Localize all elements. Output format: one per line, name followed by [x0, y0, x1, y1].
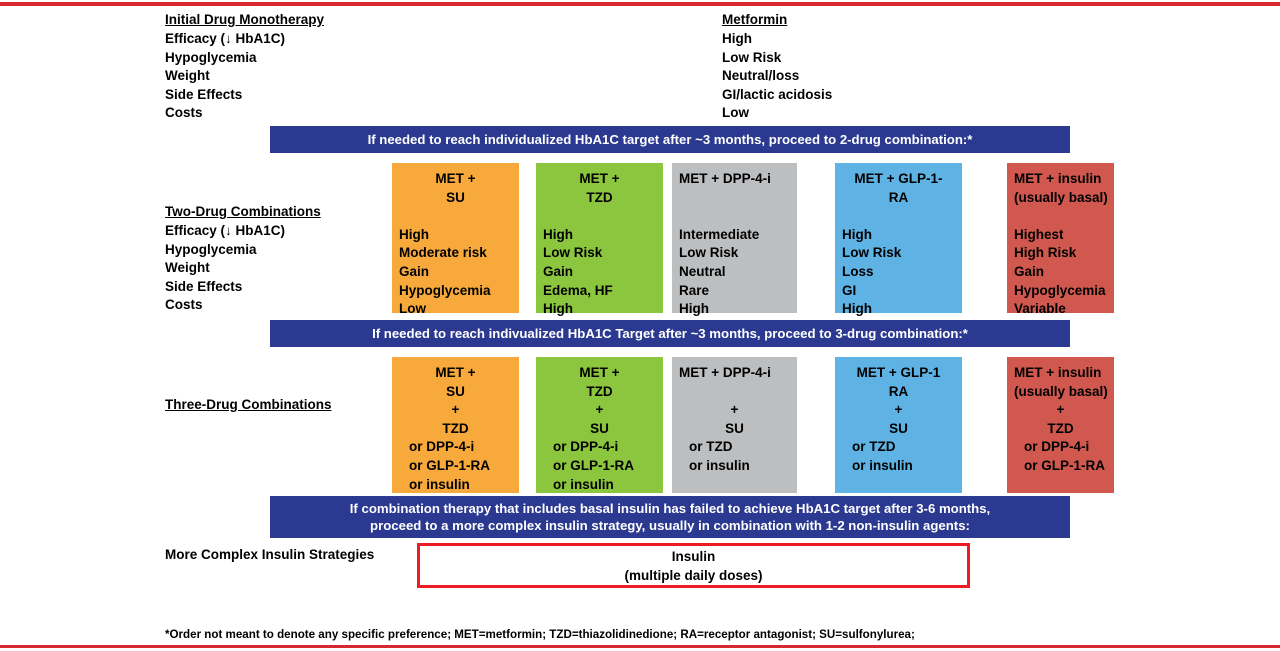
two-drug-column-met-su: MET + SU High Moderate risk Gain Hypogly…	[392, 163, 519, 313]
two-drug-col4-weight: Loss	[835, 263, 962, 282]
two-drug-col1-header-line1: MET +	[392, 170, 519, 189]
three-drug-col2-plus: +	[536, 401, 663, 420]
three-drug-col2-option-1: or DPP-4-i	[536, 438, 663, 457]
two-drug-attr-costs: Costs	[165, 296, 203, 315]
insulin-box: Insulin (multiple daily doses)	[417, 543, 970, 588]
footnote: *Order not meant to denote any specific …	[165, 596, 915, 651]
three-drug-col1-plus: +	[392, 401, 519, 420]
two-drug-attr-weight: Weight	[165, 259, 210, 278]
monotherapy-attr-efficacy: Efficacy (↓ HbA1C)	[165, 30, 285, 49]
footnote-line1: *Order not meant to denote any specific …	[165, 627, 915, 643]
two-drug-col5-costs: Variable	[1007, 300, 1114, 319]
three-drug-col5-option-2: or GLP-1-RA	[1007, 457, 1114, 476]
three-drug-column-met-su: MET + SU + TZD or DPP-4-i or GLP-1-RA or…	[392, 357, 519, 493]
three-drug-col4-base: SU	[835, 420, 962, 439]
two-drug-col3-side-effects: Rare	[672, 282, 797, 301]
three-drug-col3-header-line1: MET + DPP-4-i	[672, 364, 797, 383]
two-drug-col5-hypoglycemia: High Risk	[1007, 244, 1114, 263]
three-drug-col1-base: TZD	[392, 420, 519, 439]
two-drug-column-met-glp1ra: MET + GLP-1- RA High Low Risk Loss GI Hi…	[835, 163, 962, 313]
insulin-box-line2: (multiple daily doses)	[624, 566, 762, 585]
three-drug-col2-base: SU	[536, 420, 663, 439]
two-drug-col3-header-line1: MET + DPP-4-i	[672, 170, 797, 189]
banner-three-drug: If needed to reach indivualized HbA1C Ta…	[270, 320, 1070, 347]
metformin-hypoglycemia: Low Risk	[722, 49, 781, 68]
three-drug-col4-plus: +	[835, 401, 962, 420]
three-drug-col5-header-line1: MET + insulin	[1007, 364, 1114, 383]
two-drug-column-met-dpp4i: MET + DPP-4-i Intermediate Low Risk Neut…	[672, 163, 797, 313]
banner-three-drug-line1: If needed to reach indivualized HbA1C Ta…	[372, 325, 968, 342]
two-drug-col2-hypoglycemia: Low Risk	[536, 244, 663, 263]
three-drug-column-met-dpp4i: MET + DPP-4-i + SU or TZD or insulin	[672, 357, 797, 493]
three-drug-col4-option-2: or insulin	[835, 457, 962, 476]
monotherapy-attr-hypoglycemia: Hypoglycemia	[165, 49, 257, 68]
three-drug-col1-option-1: or DPP-4-i	[392, 438, 519, 457]
two-drug-col3-hypoglycemia: Low Risk	[672, 244, 797, 263]
three-drug-col5-option-1: or DPP-4-i	[1007, 438, 1114, 457]
banner-two-drug-line1: If needed to reach individualized HbA1C …	[368, 131, 973, 148]
two-drug-col1-costs: Low	[392, 300, 519, 319]
three-drug-column-met-tzd: MET + TZD + SU or DPP-4-i or GLP-1-RA or…	[536, 357, 663, 493]
metformin-side-effects: GI/lactic acidosis	[722, 86, 832, 105]
three-drug-col3-plus: +	[672, 401, 797, 420]
three-drug-col2-option-2: or GLP-1-RA	[536, 457, 663, 476]
banner-two-drug: If needed to reach individualized HbA1C …	[270, 126, 1070, 153]
three-drug-column-met-insulin: MET + insulin (usually basal) + TZD or D…	[1007, 357, 1114, 493]
three-drug-col3-option-1: or TZD	[672, 438, 797, 457]
two-drug-col2-side-effects: Edema, HF	[536, 282, 663, 301]
treatment-algorithm-figure: Initial Drug Monotherapy Efficacy (↓ HbA…	[0, 0, 1280, 651]
three-drug-col3-option-2: or insulin	[672, 457, 797, 476]
metformin-weight: Neutral/loss	[722, 67, 799, 86]
three-drug-column-met-glp1ra: MET + GLP-1 RA + SU or TZD or insulin	[835, 357, 962, 493]
two-drug-col2-header-line1: MET +	[536, 170, 663, 189]
top-red-rule	[0, 2, 1280, 6]
monotherapy-attr-weight: Weight	[165, 67, 210, 86]
two-drug-col5-efficacy: Highest	[1007, 226, 1114, 245]
two-drug-col1-weight: Gain	[392, 263, 519, 282]
two-drug-title: Two-Drug Combinations	[165, 203, 321, 222]
two-drug-col1-hypoglycemia: Moderate risk	[392, 244, 519, 263]
three-drug-col4-header-line1: MET + GLP-1	[835, 364, 962, 383]
three-drug-col1-header-line2: SU	[392, 383, 519, 402]
two-drug-col4-efficacy: High	[835, 226, 962, 245]
two-drug-col2-weight: Gain	[536, 263, 663, 282]
two-drug-col4-hypoglycemia: Low Risk	[835, 244, 962, 263]
two-drug-col4-side-effects: GI	[835, 282, 962, 301]
two-drug-col2-costs: High	[536, 300, 663, 319]
three-drug-col1-option-2: or GLP-1-RA	[392, 457, 519, 476]
metformin-efficacy: High	[722, 30, 752, 49]
three-drug-col1-header-line1: MET +	[392, 364, 519, 383]
two-drug-col1-side-effects: Hypoglycemia	[392, 282, 519, 301]
three-drug-col1-option-3: or insulin	[392, 476, 519, 495]
three-drug-col3-base: SU	[672, 420, 797, 439]
two-drug-col2-header-line2: TZD	[536, 189, 663, 208]
three-drug-col5-header-line2: (usually basal)	[1007, 383, 1114, 402]
complex-insulin-title: More Complex Insulin Strategies	[165, 546, 374, 565]
two-drug-col2-efficacy: High	[536, 226, 663, 245]
three-drug-col5-plus: +	[1007, 401, 1114, 420]
metformin-costs: Low	[722, 104, 749, 123]
monotherapy-attr-side-effects: Side Effects	[165, 86, 242, 105]
three-drug-col4-header-line2: RA	[835, 383, 962, 402]
two-drug-attr-hypoglycemia: Hypoglycemia	[165, 241, 257, 260]
two-drug-col5-side-effects: Hypoglycemia	[1007, 282, 1114, 301]
two-drug-col1-efficacy: High	[392, 226, 519, 245]
banner-complex-line1: If combination therapy that includes bas…	[350, 500, 990, 517]
two-drug-attr-efficacy: Efficacy (↓ HbA1C)	[165, 222, 285, 241]
three-drug-col2-header-line1: MET +	[536, 364, 663, 383]
two-drug-col5-header-line2: (usually basal)	[1007, 189, 1114, 208]
three-drug-col2-option-3: or insulin	[536, 476, 663, 495]
three-drug-col2-header-line2: TZD	[536, 383, 663, 402]
monotherapy-title: Initial Drug Monotherapy	[165, 11, 324, 30]
two-drug-col3-efficacy: Intermediate	[672, 226, 797, 245]
monotherapy-attr-costs: Costs	[165, 104, 203, 123]
two-drug-col5-weight: Gain	[1007, 263, 1114, 282]
two-drug-attr-side-effects: Side Effects	[165, 278, 242, 297]
three-drug-col5-base: TZD	[1007, 420, 1114, 439]
two-drug-column-met-insulin: MET + insulin (usually basal) Highest Hi…	[1007, 163, 1114, 313]
three-drug-title: Three-Drug Combinations	[165, 396, 332, 415]
two-drug-column-met-tzd: MET + TZD High Low Risk Gain Edema, HF H…	[536, 163, 663, 313]
two-drug-col5-header-line1: MET + insulin	[1007, 170, 1114, 189]
banner-complex-line2: proceed to a more complex insulin strate…	[370, 517, 970, 534]
two-drug-col1-header-line2: SU	[392, 189, 519, 208]
metformin-title: Metformin	[722, 11, 787, 30]
two-drug-col3-weight: Neutral	[672, 263, 797, 282]
insulin-box-line1: Insulin	[672, 547, 716, 566]
two-drug-col4-costs: High	[835, 300, 962, 319]
three-drug-col4-option-1: or TZD	[835, 438, 962, 457]
banner-complex-insulin: If combination therapy that includes bas…	[270, 496, 1070, 538]
two-drug-col4-header-line1: MET + GLP-1-	[835, 170, 962, 189]
two-drug-col4-header-line2: RA	[835, 189, 962, 208]
two-drug-col3-costs: High	[672, 300, 797, 319]
